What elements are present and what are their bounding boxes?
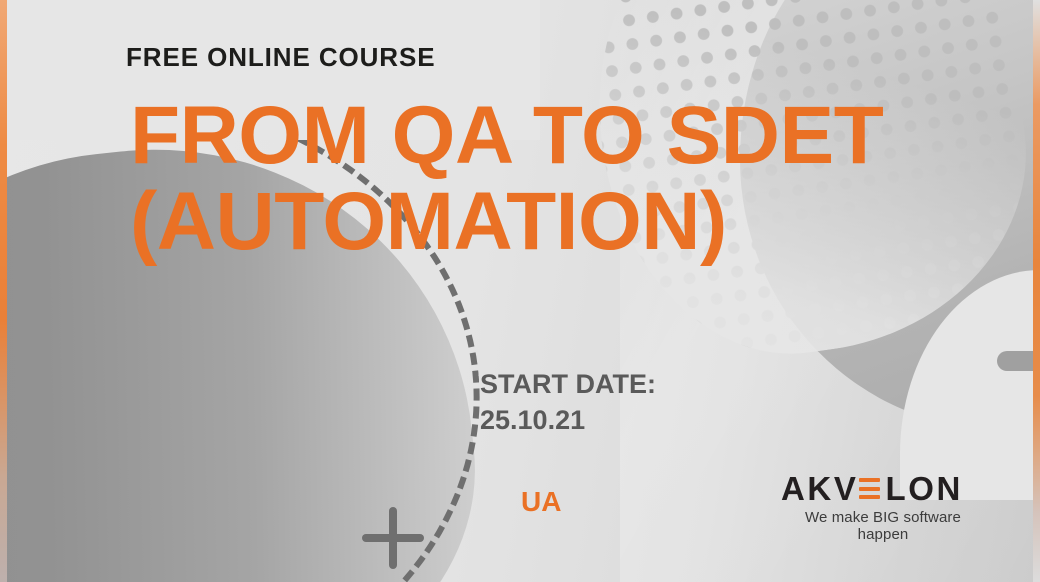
akvelon-logo-e-bars-icon — [859, 478, 880, 499]
akvelon-logo-bar-middle — [859, 487, 880, 491]
akvelon-logo: AKV LON We make BIG software happen — [781, 472, 985, 543]
akvelon-logo-part-1: AKV — [781, 472, 858, 505]
course-kicker-label: FREE ONLINE COURSE — [126, 42, 435, 73]
akvelon-logo-part-2: LON — [885, 472, 962, 505]
start-date-label: START DATE: — [480, 366, 656, 402]
title-line-1: FROM QA TO SDET — [130, 90, 883, 181]
akvelon-logo-bar-top — [859, 478, 880, 482]
title-line-2: (AUTOMATION) — [130, 182, 1010, 262]
start-date-block: START DATE: 25.10.21 — [480, 366, 656, 439]
locale-badge: UA — [521, 486, 561, 518]
slide-content: FREE ONLINE COURSE FROM QA TO SDET (AUTO… — [0, 0, 1040, 582]
akvelon-logo-bar-bottom — [859, 495, 880, 499]
akvelon-logo-wordmark: AKV LON — [781, 472, 985, 505]
page-title: FROM QA TO SDET (AUTOMATION) — [130, 96, 1010, 263]
start-date-value: 25.10.21 — [480, 402, 656, 438]
presentation-slide: FREE ONLINE COURSE FROM QA TO SDET (AUTO… — [0, 0, 1040, 582]
akvelon-logo-tagline: We make BIG software happen — [781, 509, 985, 543]
